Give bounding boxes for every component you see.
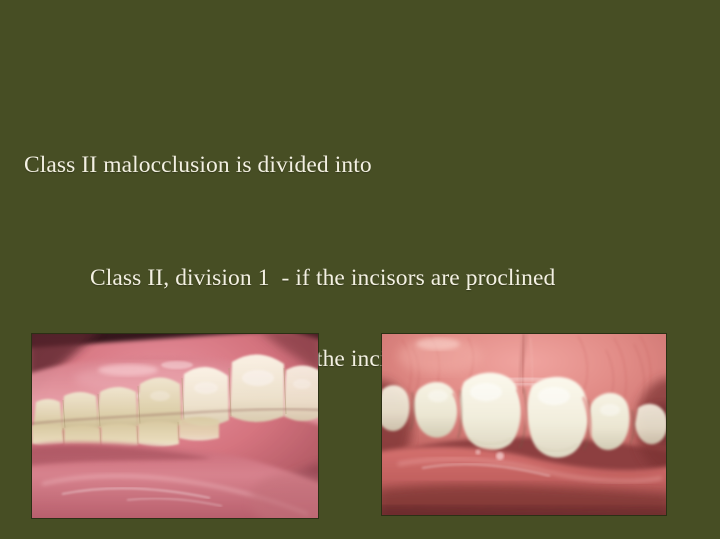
slide-canvas: Class II malocclusion is divided into Cl… xyxy=(0,0,720,539)
lateral-intraoral-photograph-graphic xyxy=(32,334,318,518)
frontal-intraoral-photograph xyxy=(382,334,666,515)
slide-heading: Class II malocclusion is divided into xyxy=(24,152,372,178)
frontal-intraoral-photograph-graphic xyxy=(382,334,666,515)
slide-bullet-division-1: Class II, division 1 - if the incisors a… xyxy=(90,265,575,292)
lateral-intraoral-photograph xyxy=(32,334,318,518)
